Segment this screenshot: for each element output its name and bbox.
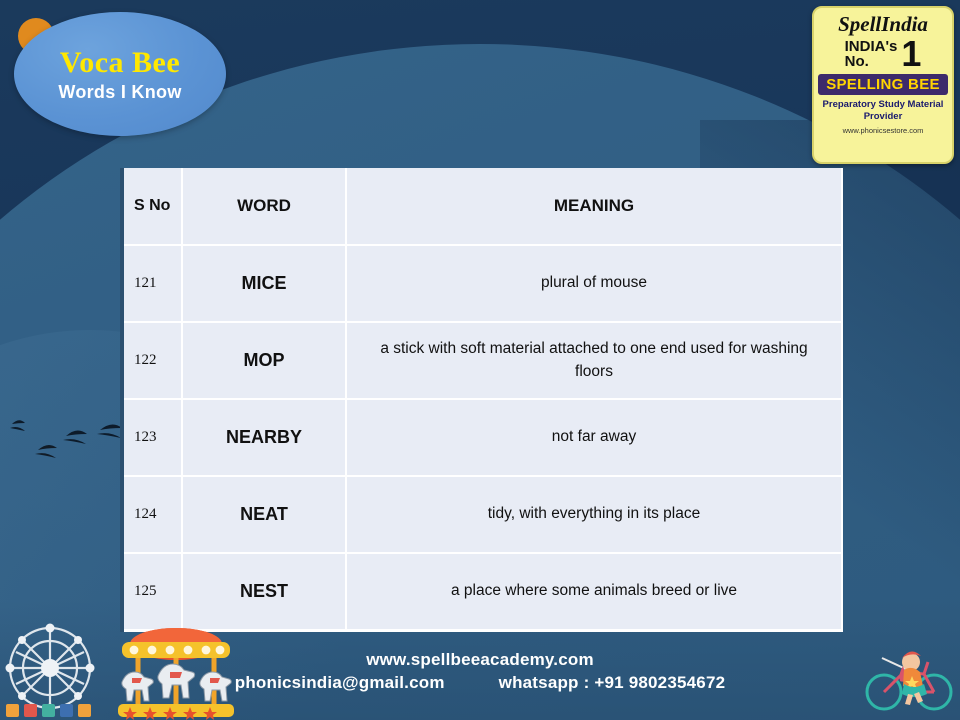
table-row: 123 NEARBY not far away [122,399,842,476]
spellindia-badge: SpellIndia INDIA's No. 1 SPELLING BEE Pr… [812,6,954,164]
footer-email: phonicsindia@gmail.com [235,673,445,693]
cell-sno: 122 [122,322,182,399]
cell-sno: 124 [122,476,182,553]
table-body: 121 MICE plural of mouse 122 MOP a stick… [122,245,842,631]
slide-canvas: Voca Bee Words I Know SpellIndia INDIA's… [0,0,960,720]
footer: www.spellbeeacademy.com phonicsindia@gma… [0,650,960,693]
cell-meaning: a stick with soft material attached to o… [346,322,842,399]
cell-word: MOP [182,322,346,399]
table-head: S No WORD MEANING [122,168,842,245]
badge-rank-line2: No. [845,54,898,70]
cell-sno: 121 [122,245,182,322]
table-row: 121 MICE plural of mouse [122,245,842,322]
vocabulary-table: S No WORD MEANING 121 MICE plural of mou… [120,168,843,632]
footer-whatsapp: whatsapp : +91 9802354672 [499,673,726,693]
badge-description: Preparatory Study Material Provider [819,99,947,123]
badge-rank-number: 1 [901,38,921,70]
page-title: Voca Bee [60,46,180,79]
badge-rank-label: INDIA's No. [845,39,898,71]
cell-meaning: not far away [346,399,842,476]
column-header-sno: S No [122,168,182,245]
badge-spelling-bee-strip: SPELLING BEE [818,74,948,95]
badge-rank-block: INDIA's No. 1 [814,38,952,70]
birds-icon [8,398,138,478]
cell-word: NEST [182,553,346,631]
cell-sno: 125 [122,553,182,631]
cell-word: NEARBY [182,399,346,476]
table-row: 124 NEAT tidy, with everything in its pl… [122,476,842,553]
table-row: 122 MOP a stick with soft material attac… [122,322,842,399]
footer-website: www.spellbeeacademy.com [0,650,960,670]
vocabulary-table-wrapper: S No WORD MEANING 121 MICE plural of mou… [120,168,840,632]
cell-meaning: tidy, with everything in its place [346,476,842,553]
table-header-row: S No WORD MEANING [122,168,842,245]
page-subtitle: Words I Know [58,82,181,103]
badge-url: www.phonicsestore.com [843,126,924,135]
badge-rank-line1: INDIA's [845,39,898,55]
brand-title-oval: Voca Bee Words I Know [14,12,226,136]
cell-word: MICE [182,245,346,322]
cell-word: NEAT [182,476,346,553]
footer-contact-row: phonicsindia@gmail.com whatsapp : +91 98… [0,673,960,693]
column-header-meaning: MEANING [346,168,842,245]
column-header-word: WORD [182,168,346,245]
table-row: 125 NEST a place where some animals bree… [122,553,842,631]
cell-meaning: plural of mouse [346,245,842,322]
cell-meaning: a place where some animals breed or live [346,553,842,631]
cell-sno: 123 [122,399,182,476]
